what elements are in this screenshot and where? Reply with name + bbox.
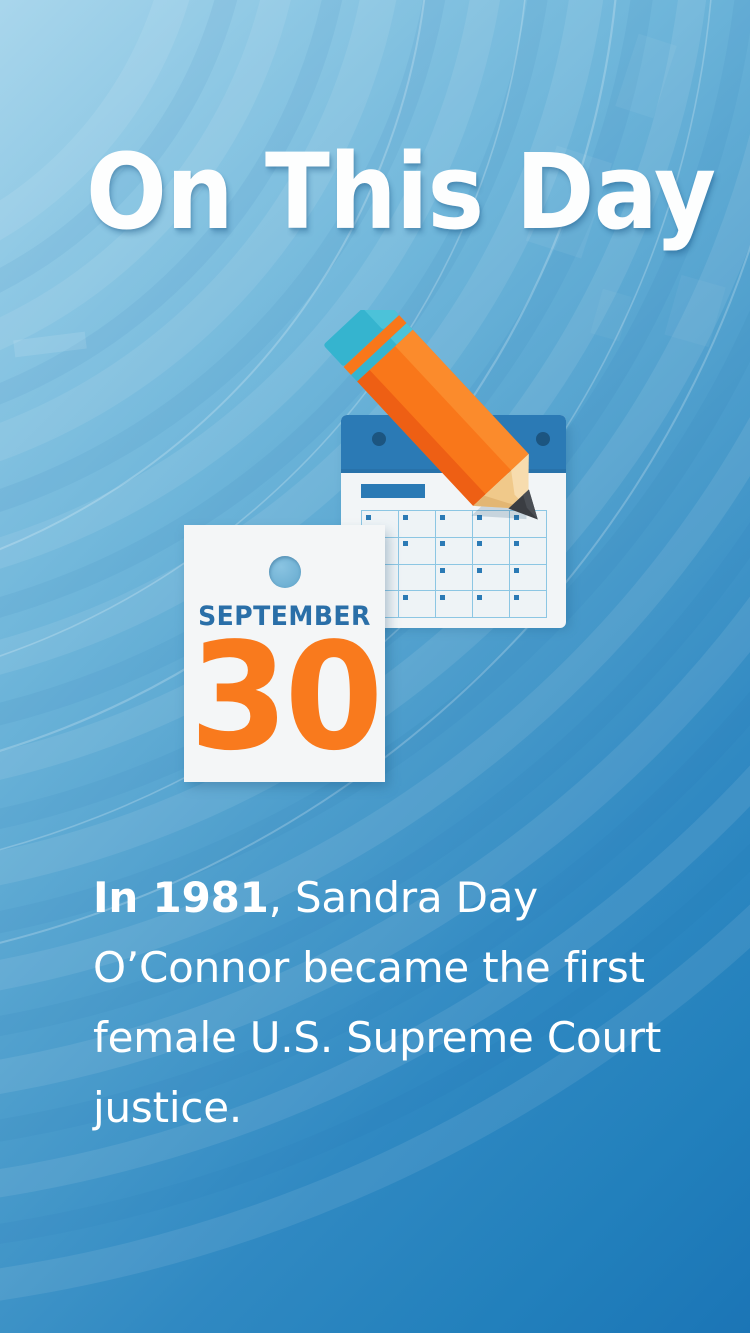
calendar-cell — [510, 591, 547, 618]
calendar-cell — [436, 591, 473, 618]
day-card-day-number: 30 — [188, 623, 381, 771]
calendar-cell — [399, 538, 436, 565]
calendar-cell — [399, 565, 436, 592]
hole-punch-icon — [269, 556, 301, 588]
calendar-cell — [510, 538, 547, 565]
calendar-cell — [436, 538, 473, 565]
fact-text: In 1981, Sandra Day O’Connor became the … — [93, 863, 673, 1143]
calendar-cell — [473, 565, 510, 592]
calendar-cell — [473, 538, 510, 565]
tear-off-day-card: SEPTEMBER 30 — [184, 525, 385, 782]
calendar-with-pencil-illustration: SEPTEMBER 30 — [0, 0, 750, 820]
calendar-cell — [436, 565, 473, 592]
fact-year: In 1981 — [93, 873, 269, 922]
on-this-day-card: On This Day — [0, 0, 750, 1333]
calendar-cell — [473, 591, 510, 618]
pencil-icon — [295, 310, 595, 530]
calendar-cell — [399, 591, 436, 618]
calendar-cell — [510, 565, 547, 592]
